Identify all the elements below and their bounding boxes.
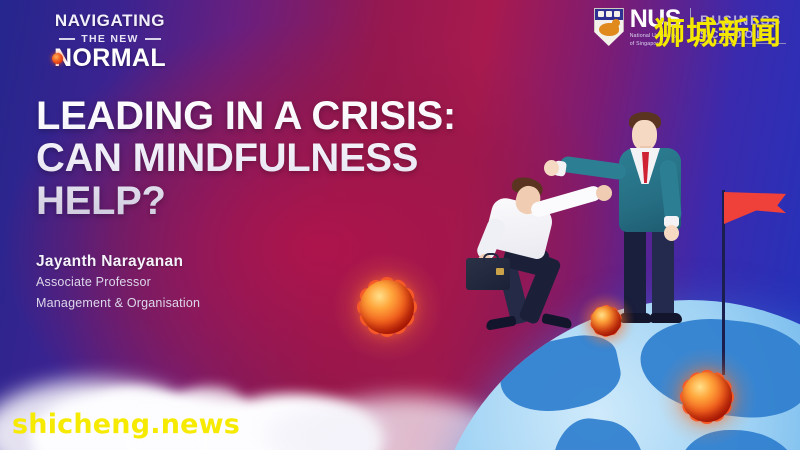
headline-line-2: CAN MINDFULNESS (36, 137, 506, 179)
speaker-title: Associate Professor (36, 274, 200, 292)
headline-line-1: LEADING IN A CRISIS: (36, 95, 506, 137)
speaker-name: Jayanth Narayanan (36, 253, 200, 271)
logo-normal-text: NORMAL (54, 44, 166, 72)
coronavirus-particle (580, 295, 632, 347)
logo-dash-left (59, 38, 75, 40)
speaker-department: Management & Organisation (36, 295, 200, 313)
businessman-teal-suit (600, 108, 720, 323)
logo-line-navigating: NAVIGATING (30, 12, 190, 30)
nus-crest-icon (594, 8, 624, 46)
slide-canvas: NAVIGATING THE NEW NORMAL NUS National U… (0, 0, 800, 450)
headline-line-3: HELP? (36, 180, 506, 222)
site-watermark: shicheng.news (12, 409, 240, 440)
coronavirus-particle (338, 258, 436, 356)
chinese-watermark: 狮城新闻 (654, 8, 782, 53)
logo-line-normal: NORMAL (30, 46, 190, 71)
logo-dash-right (145, 38, 161, 40)
virus-dot-icon (52, 53, 63, 64)
speaker-block: Jayanth Narayanan Associate Professor Ma… (36, 253, 200, 313)
navigating-the-new-normal-logo: NAVIGATING THE NEW NORMAL (30, 12, 190, 71)
page-title: LEADING IN A CRISIS: CAN MINDFULNESS HEL… (36, 95, 506, 222)
coronavirus-particle (662, 352, 752, 442)
